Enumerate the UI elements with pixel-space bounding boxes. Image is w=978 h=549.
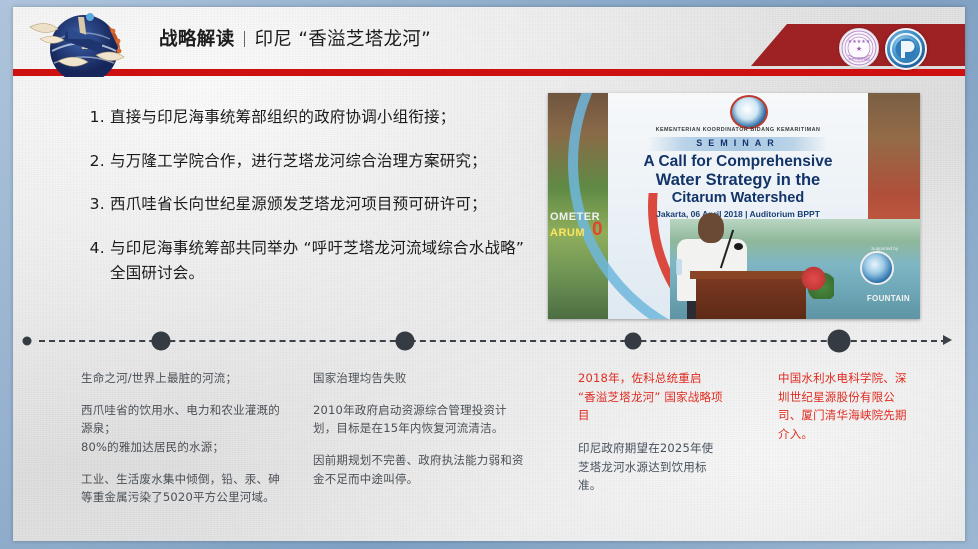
- title-separator: ｜: [237, 32, 253, 49]
- microphone-head-icon: [734, 243, 743, 250]
- seminar-title-line2: Water Strategy in the: [608, 171, 868, 190]
- timeline-dot: [23, 337, 32, 346]
- seminar-title-line1: A Call for Comprehensive: [608, 153, 868, 171]
- photo-left-word-zero: 0: [592, 219, 603, 241]
- column-paragraph: 国家治理均告失败: [313, 369, 528, 388]
- column-paragraph: 印尼政府期望在2025年使芝塔龙河水源达到饮用标准。: [578, 439, 723, 495]
- timeline-dot: [828, 330, 851, 353]
- bullet-list: 直接与印尼海事统筹部组织的政府协调小组衔接； 与万隆工学院合作，进行芝塔龙河综合…: [88, 105, 528, 287]
- column-paragraph-highlight: 中国水利水电科学院、深圳世纪星源股份有限公司、厦门清华海峡院先期介入。: [778, 369, 908, 444]
- seminar-date-venue: Jakarta, 06 April 2018 | Auditorium BPPT: [608, 209, 868, 219]
- timeline-dot: [625, 333, 642, 350]
- slide-canvas: 战略解读｜印尼 “香溢芝塔龙河” ★★★★★ ★ 中华人民共和国 直接与印尼海事…: [13, 7, 965, 541]
- timeline-dashed-line: [39, 340, 947, 342]
- flower-arrangement: [800, 265, 834, 299]
- sponsor-logo-icon: [860, 251, 894, 285]
- title-sub-text: 印尼 “香溢芝塔龙河”: [255, 29, 431, 50]
- presentation-frame: 战略解读｜印尼 “香溢芝塔龙河” ★★★★★ ★ 中华人民共和国 直接与印尼海事…: [0, 0, 978, 549]
- column-paragraph: 工业、生活废水集中倾倒，铅、汞、砷等重金属污染了5020平方公里河域。: [81, 470, 281, 507]
- timeline-column-3: 2018年，佐科总统重启 “香溢芝塔龙河” 国家战略项目 印尼政府期望在2025…: [578, 369, 723, 495]
- timeline-arrow-icon: [943, 335, 952, 345]
- blue-company-seal-icon: [885, 28, 927, 70]
- slide-header: 战略解读｜印尼 “香溢芝塔龙河” ★★★★★ ★ 中华人民共和国: [13, 7, 965, 77]
- column-paragraph: 因前期规划不完善、政府执法能力弱和资金不足而中途叫停。: [313, 451, 528, 488]
- svg-text:中华人民共和国: 中华人民共和国: [848, 56, 869, 61]
- podium: [696, 275, 806, 319]
- speaker-head: [698, 213, 724, 243]
- slide-title: 战略解读｜印尼 “香溢芝塔龙河”: [159, 29, 579, 52]
- photo-left-word-bottom: ARUM: [550, 227, 585, 239]
- timeline-dot: [396, 332, 415, 351]
- podium-top: [690, 271, 812, 279]
- ministry-name-text: KEMENTERIAN KOORDINATOR BIDANG KEMARITIM…: [608, 127, 868, 133]
- timeline-column-4: 中国水利水电科学院、深圳世纪星源股份有限公司、厦门清华海峡院先期介入。: [778, 369, 908, 444]
- timeline-column-2: 国家治理均告失败 2010年政府启动资源综合管理投资计划，目标是在15年内恢复河…: [313, 369, 528, 488]
- horizontal-timeline: [13, 329, 965, 353]
- sponsor-label-text: FOUNTAIN: [867, 294, 910, 303]
- purple-government-seal-icon: ★★★★★ ★ 中华人民共和国: [839, 28, 879, 68]
- bullet-item: 与万隆工学院合作，进行芝塔龙河综合治理方案研究；: [110, 149, 528, 175]
- column-paragraph: 2010年政府启动资源综合管理投资计划，目标是在15年内恢复河流清洁。: [313, 401, 528, 438]
- ministry-logo-icon: [730, 95, 768, 129]
- column-paragraph: 生命之河/世界上最脏的河流；: [81, 369, 281, 388]
- bullet-item: 与印尼海事统筹部共同举办 “呼吁芝塔龙河流域综合水战略” 全国研讨会。: [110, 236, 528, 287]
- maritime-globe-emblem-icon: [18, 9, 150, 77]
- water-bottle: [676, 259, 682, 275]
- seminar-photo: KEMENTERIAN KOORDINATOR BIDANG KEMARITIM…: [548, 93, 920, 319]
- svg-text:★: ★: [856, 45, 862, 53]
- column-paragraph-highlight: 2018年，佐科总统重启 “香溢芝塔龙河” 国家战略项目: [578, 369, 723, 425]
- seminar-label-text: SEMINAR: [608, 138, 868, 148]
- svg-text:★★★★★: ★★★★★: [848, 39, 871, 45]
- bullet-item: 直接与印尼海事统筹部组织的政府协调小组衔接；: [110, 105, 528, 131]
- column-paragraph: 西爪哇省的饮用水、电力和农业灌溉的源泉； 80%的雅加达居民的水源；: [81, 401, 281, 457]
- header-red-underline: [13, 69, 965, 76]
- timeline-column-1: 生命之河/世界上最脏的河流； 西爪哇省的饮用水、电力和农业灌溉的源泉； 80%的…: [81, 369, 281, 507]
- seminar-title-line3: Citarum Watershed: [608, 190, 868, 206]
- bullet-item: 西爪哇省长向世纪星源颁发芝塔龙河项目预可研许可；: [110, 192, 528, 218]
- title-main-text: 战略解读: [159, 29, 235, 50]
- timeline-dot: [152, 332, 171, 351]
